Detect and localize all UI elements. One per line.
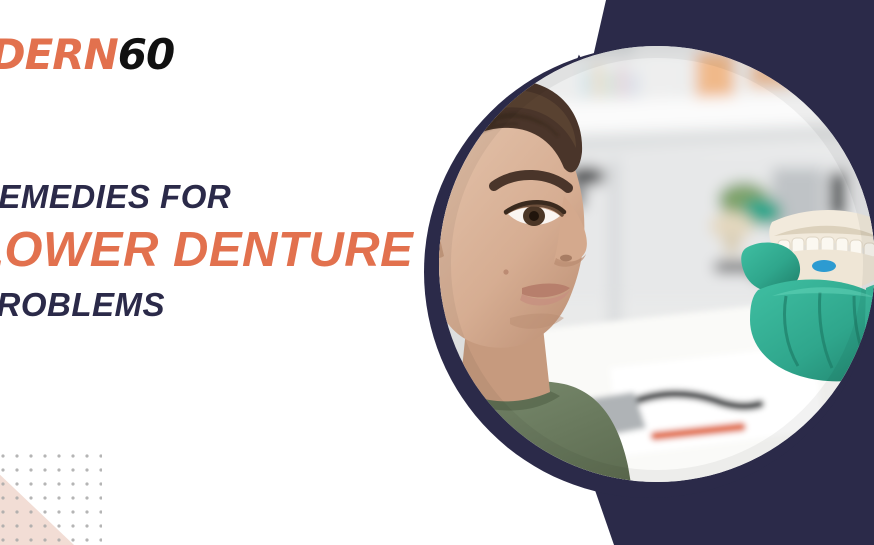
headline-line-3: PROBLEMS [0, 288, 413, 322]
blue-marking [812, 260, 836, 272]
logo-number: 60 [118, 30, 174, 79]
headline-line-1: REMEDIES FOR [0, 180, 413, 214]
logo-word: ODERN [0, 30, 118, 79]
headline-line-2: LOWER DENTURE [0, 226, 413, 276]
dot-grid-pattern [0, 453, 102, 545]
article-header-banner: ODERN60 REMEDIES FOR LOWER DENTURE PROBL… [0, 0, 874, 545]
decorative-corner [0, 425, 210, 545]
modern60-logo[interactable]: ODERN60 [0, 34, 174, 76]
hero-artwork [414, 0, 874, 545]
page-title: REMEDIES FOR LOWER DENTURE PROBLEMS [0, 180, 413, 333]
